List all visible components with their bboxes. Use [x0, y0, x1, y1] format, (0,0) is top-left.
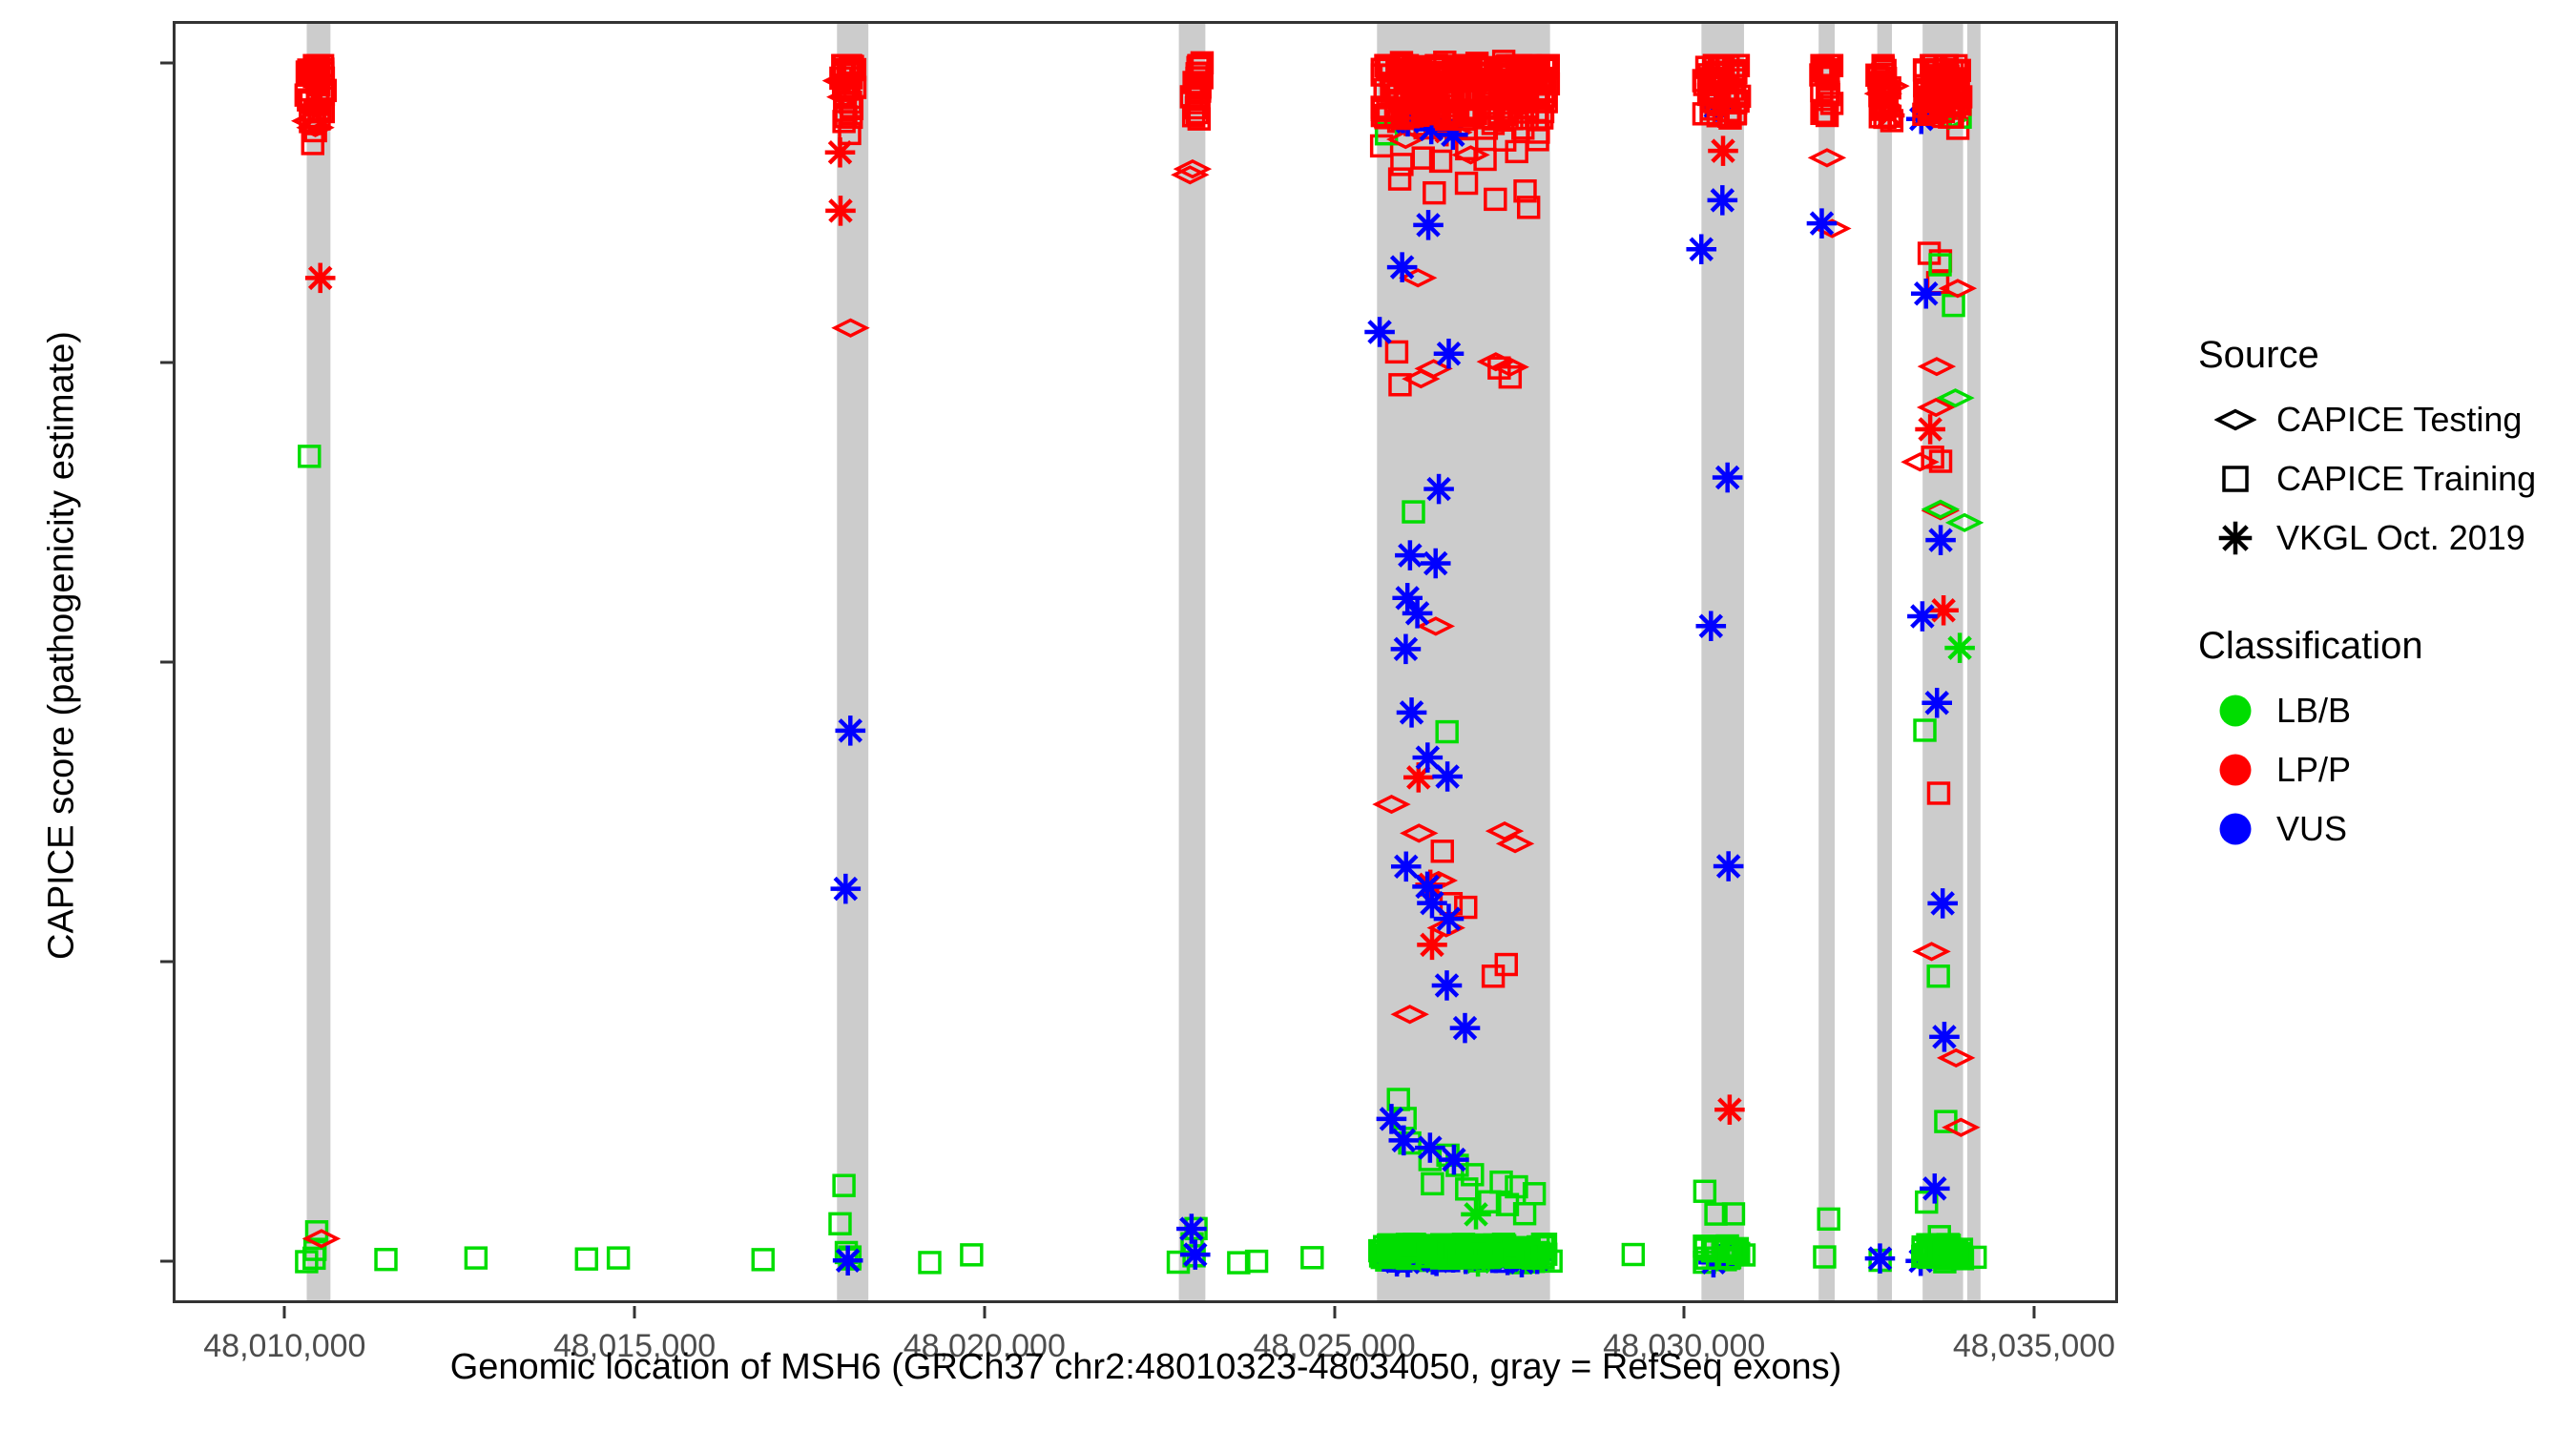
dot-icon [2194, 690, 2276, 732]
data-point [1418, 361, 1449, 376]
data-point [1623, 1245, 1643, 1265]
asterisk-icon [2194, 517, 2276, 559]
legend-item-vus[interactable]: VUS [2194, 799, 2557, 859]
data-point [1920, 1173, 1950, 1204]
data-point [305, 263, 336, 294]
series-asterisk-vus [831, 92, 1972, 1277]
y-axis-tick-mark [160, 361, 173, 363]
data-point [1907, 601, 1938, 632]
dot-icon [2194, 749, 2276, 791]
data-point [1927, 888, 1958, 919]
series-diamond-lp-p [295, 71, 1977, 1246]
data-point [1496, 955, 1516, 975]
data-point [466, 1248, 486, 1268]
data-point [1432, 761, 1463, 792]
data-point [1394, 1006, 1425, 1022]
data-point [920, 1253, 940, 1273]
data-point [1402, 598, 1433, 629]
legend-item-lb-b[interactable]: LB/B [2194, 681, 2557, 740]
diamond-icon [2194, 399, 2276, 441]
data-point [1395, 540, 1425, 570]
series-square-lb-b [297, 107, 1985, 1273]
data-point [1180, 1239, 1211, 1270]
data-point [576, 1249, 596, 1269]
data-point [1929, 783, 1949, 803]
legend-label: VUS [2276, 809, 2347, 849]
data-point [1928, 966, 1948, 986]
data-point [376, 1250, 396, 1270]
data-point [1403, 825, 1435, 840]
data-point [1376, 797, 1407, 812]
x-axis-tick-mark [983, 1306, 986, 1318]
data-point [825, 196, 856, 226]
data-point [1423, 1173, 1443, 1193]
data-point [609, 1248, 629, 1268]
y-axis-title: CAPICE score (pathogenicity estimate) [42, 26, 83, 1266]
data-point [1450, 1013, 1481, 1044]
data-point [1915, 414, 1945, 445]
data-point [1812, 150, 1843, 165]
data-point [1457, 1179, 1477, 1199]
y-axis-tick-mark [160, 1260, 173, 1263]
y-axis-tick-mark [160, 961, 173, 964]
data-point [1302, 1248, 1322, 1268]
data-points-layer [176, 24, 2115, 1300]
data-point [1818, 1209, 1839, 1229]
legend-label: VKGL Oct. 2019 [2276, 518, 2525, 558]
chart-legend: SourceCAPICE TestingCAPICE TrainingVKGL … [2194, 334, 2557, 916]
data-point [962, 1245, 982, 1265]
data-point [1176, 1213, 1207, 1244]
series-square-lp-p [296, 52, 1967, 986]
data-point [1413, 210, 1444, 240]
data-point [1925, 525, 1956, 555]
data-point [1815, 1247, 1835, 1267]
data-point [1437, 722, 1457, 742]
data-point [1929, 1022, 1960, 1052]
square-icon [2194, 458, 2276, 500]
series-dense-top-lp-p [299, 55, 1971, 129]
data-point [1397, 697, 1427, 728]
legend-label: CAPICE Testing [2276, 400, 2522, 440]
data-point [1389, 1126, 1420, 1156]
data-point [1928, 595, 1959, 626]
data-point [833, 1245, 863, 1275]
data-point [1461, 1199, 1491, 1230]
data-point [1364, 317, 1395, 347]
x-axis-tick-mark [2032, 1306, 2035, 1318]
chart-root: CAPICE score (pathogenicity estimate) 0.… [0, 0, 2576, 1431]
data-point [1922, 688, 1952, 718]
data-point [834, 1175, 854, 1195]
data-point [1708, 185, 1738, 216]
data-point [753, 1250, 773, 1270]
data-point [1916, 944, 1947, 959]
y-axis-tick-mark [160, 61, 173, 64]
legend-group-source: SourceCAPICE TestingCAPICE TrainingVKGL … [2194, 334, 2557, 568]
data-point [1915, 720, 1935, 740]
data-point [1391, 634, 1422, 665]
data-point [1432, 970, 1463, 1001]
data-point [1432, 841, 1452, 861]
plot-panel [173, 21, 2118, 1303]
x-axis-tick-mark [1683, 1306, 1686, 1318]
data-point [1713, 463, 1743, 493]
legend-label: LB/B [2276, 691, 2351, 731]
data-point [1943, 296, 1963, 316]
data-point [1421, 549, 1451, 579]
data-point [1694, 1181, 1714, 1201]
data-point [1695, 611, 1726, 641]
legend-group-classification: ClassificationLB/BLP/PVUS [2194, 625, 2557, 859]
dot-icon [2194, 808, 2276, 850]
data-point [825, 137, 856, 168]
y-axis-tick-mark [160, 661, 173, 664]
data-point [1708, 135, 1738, 166]
data-point [1457, 174, 1477, 194]
data-point [1439, 1145, 1469, 1175]
data-point [1922, 359, 1953, 374]
data-point [1944, 633, 1975, 663]
data-point [1911, 279, 1942, 309]
data-point [1865, 1243, 1896, 1274]
x-axis-tick-mark [283, 1306, 286, 1318]
legend-item-lp-p[interactable]: LP/P [2194, 740, 2557, 799]
x-axis-title: Genomic location of MSH6 (GRCh37 chr2:48… [173, 1347, 2119, 1388]
data-point [835, 715, 865, 746]
data-point [1714, 851, 1744, 881]
data-point [1434, 903, 1465, 934]
data-point [1434, 339, 1465, 369]
legend-title-classification: Classification [2198, 625, 2557, 668]
data-point [1387, 252, 1418, 282]
data-point [1484, 966, 1504, 986]
legend-item-capice-testing[interactable]: CAPICE Testing [2194, 390, 2557, 449]
legend-item-vkgl-oct-2019[interactable]: VKGL Oct. 2019 [2194, 508, 2557, 568]
data-point [1686, 234, 1716, 264]
data-point [1949, 515, 1981, 530]
data-point [300, 446, 320, 467]
legend-title-source: Source [2198, 334, 2557, 377]
x-axis-tick-mark [1333, 1306, 1336, 1318]
data-point [1417, 930, 1447, 961]
data-point [831, 874, 862, 904]
legend-item-capice-training[interactable]: CAPICE Training [2194, 449, 2557, 508]
data-point [1807, 208, 1838, 238]
data-point [1424, 183, 1444, 203]
data-point [1403, 502, 1423, 522]
data-point [1386, 342, 1406, 362]
data-point [830, 1213, 850, 1234]
data-point [835, 321, 866, 336]
legend-label: LP/P [2276, 750, 2351, 790]
data-point [1941, 1050, 1972, 1066]
data-point [1423, 474, 1454, 505]
legend-label: CAPICE Training [2276, 459, 2536, 499]
data-point [1485, 189, 1506, 209]
plot-area [176, 24, 2115, 1300]
data-point [1714, 1094, 1745, 1125]
x-axis-tick-mark [634, 1306, 636, 1318]
